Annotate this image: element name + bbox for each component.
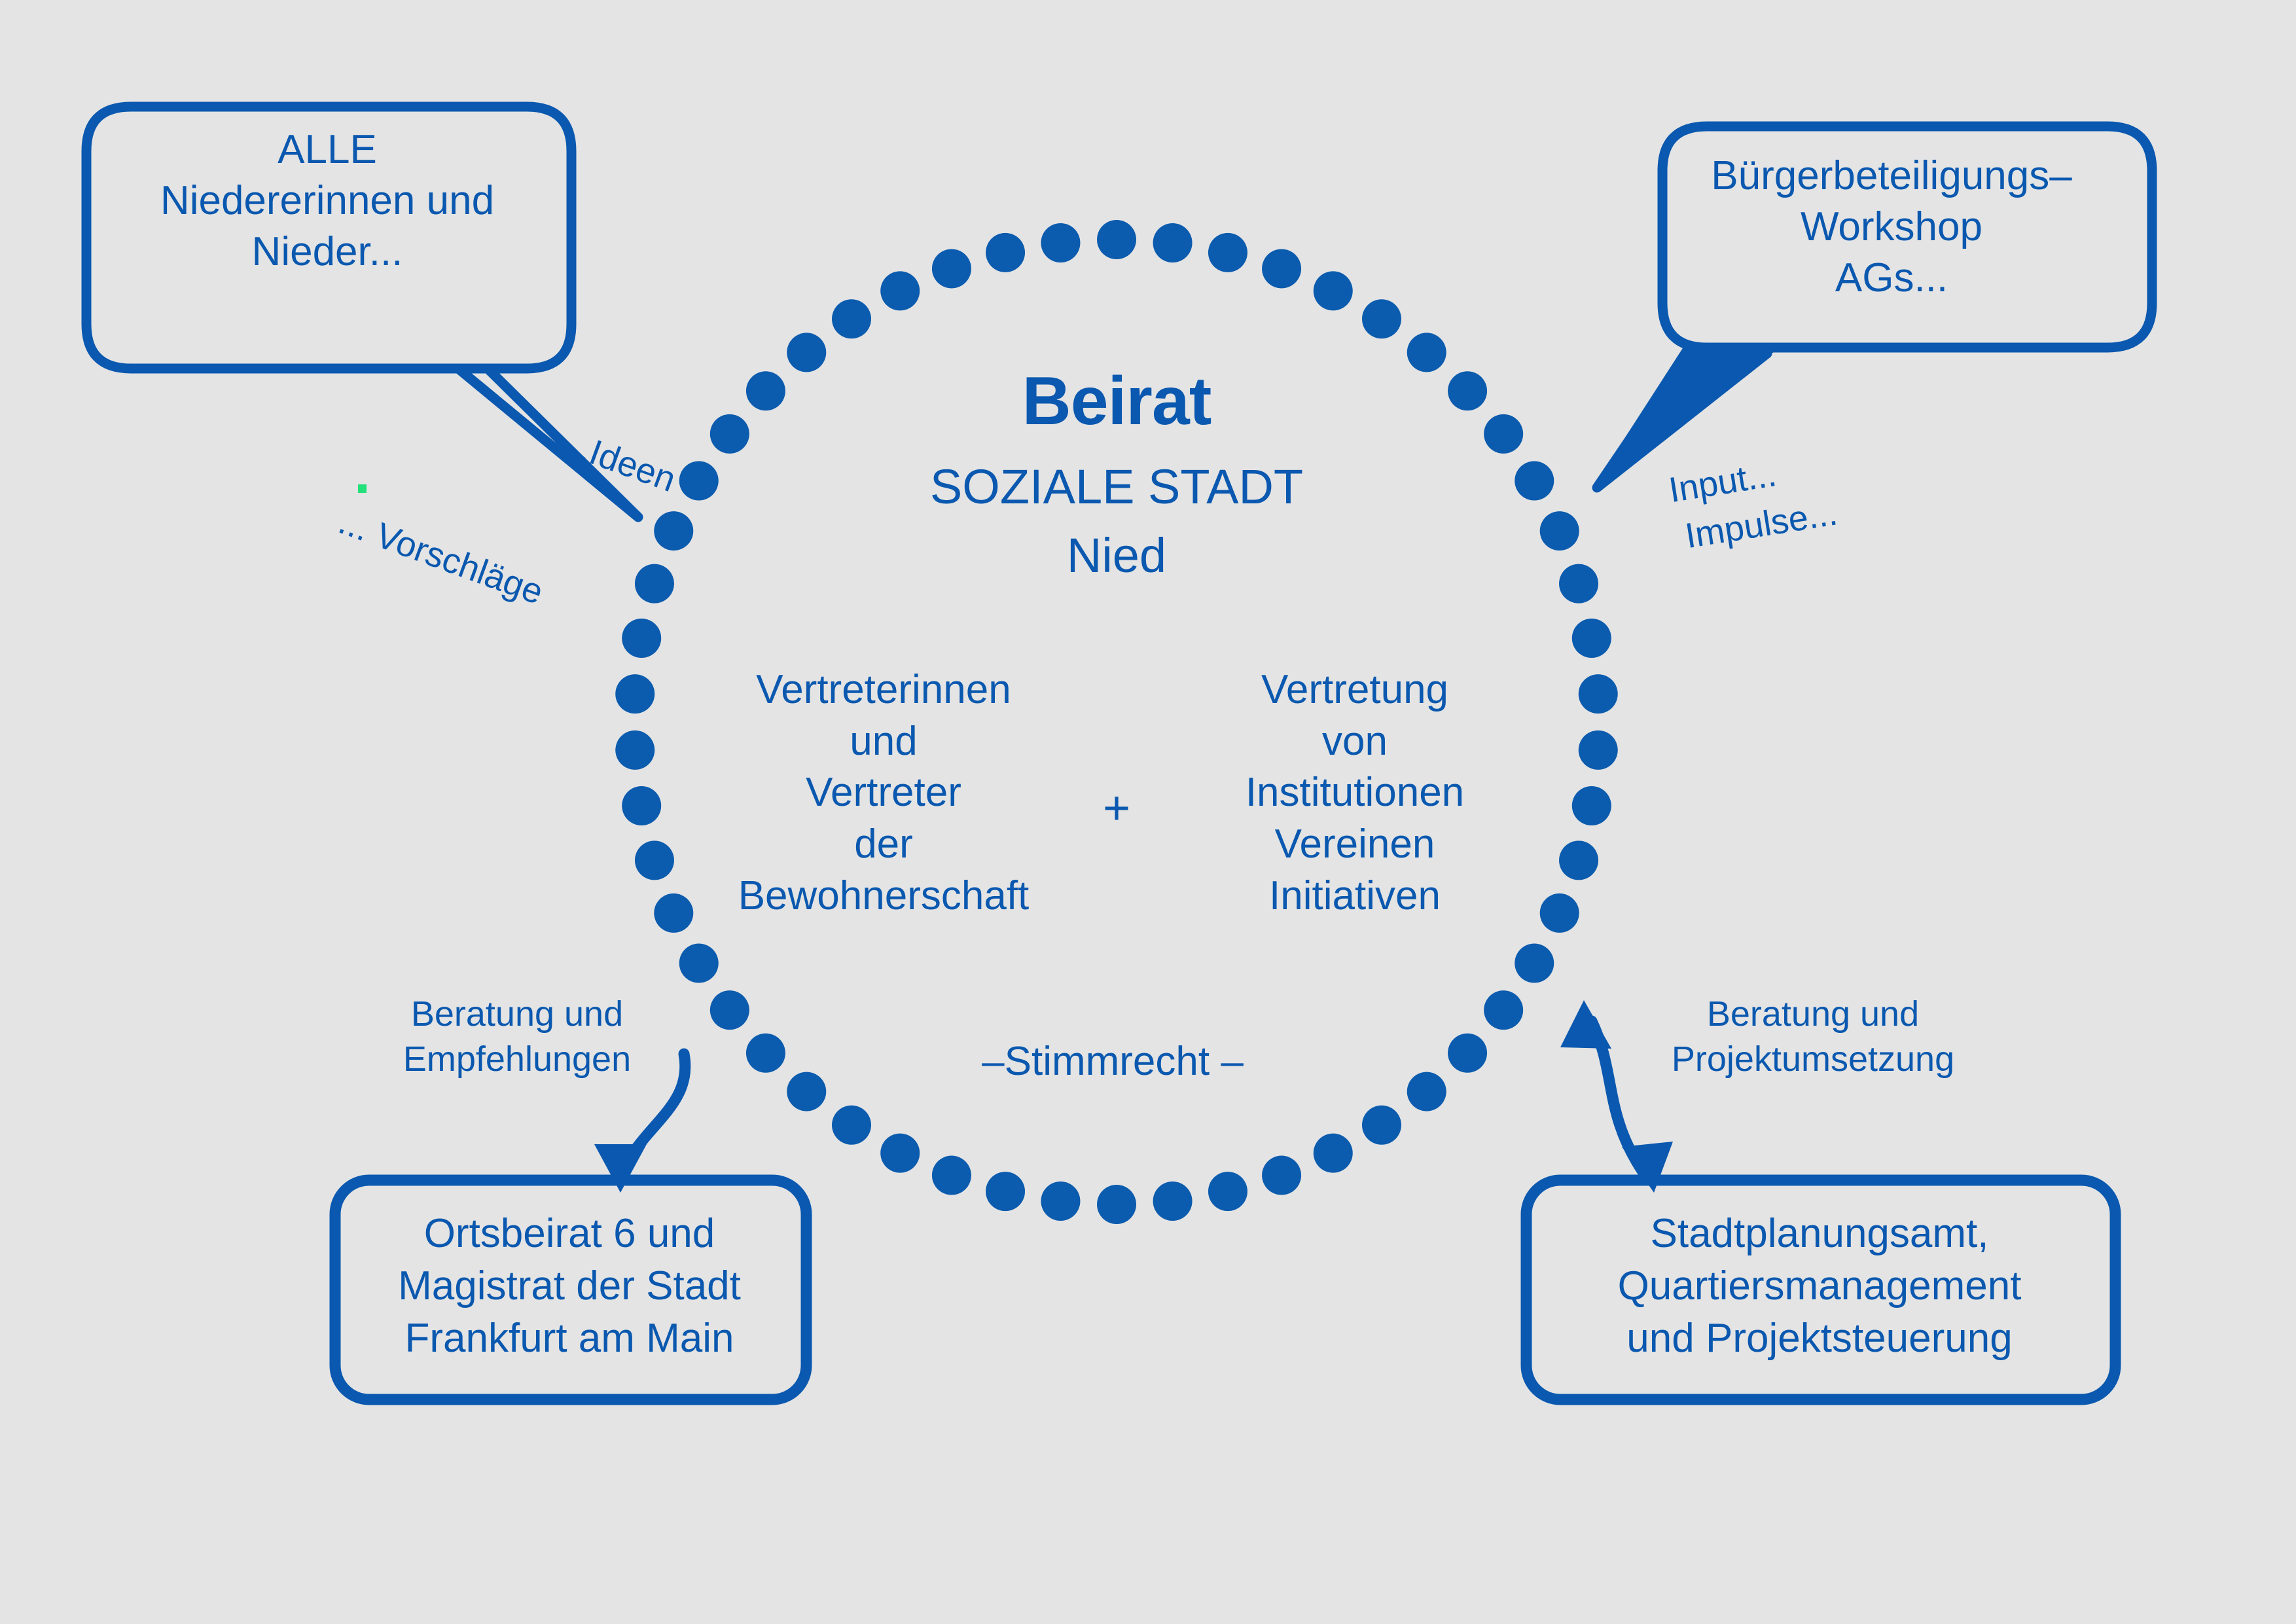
box-bottom-right-label: Stadtplanungsamt, Quartiersmanagement un… — [1545, 1208, 2094, 1365]
center-title: Beirat — [789, 361, 1444, 442]
center-column-left: Vertreterinnen und Vertreter der Bewohne… — [700, 664, 1067, 922]
ring-dot — [1572, 786, 1611, 825]
ring-dot — [1314, 1134, 1353, 1173]
center-subtitle-line2: Nied — [789, 527, 1444, 584]
ring-dot — [1362, 1106, 1401, 1145]
ring-dot — [635, 564, 674, 604]
ring-dot — [615, 674, 655, 713]
ring-dot — [880, 271, 920, 310]
ring-dot — [986, 233, 1025, 272]
ring-dot — [622, 619, 661, 658]
ring-dot — [1208, 1172, 1247, 1211]
ring-dot — [932, 1156, 971, 1195]
box-bottom-left-label: Ortsbeirat 6 und Magistrat der Stadt Fra… — [340, 1208, 798, 1365]
ring-dot — [1484, 990, 1523, 1030]
ring-dot — [1314, 271, 1353, 310]
ring-dot — [1448, 1034, 1487, 1073]
label-beratung-projektumsetzung: Beratung und Projektumsetzung — [1630, 992, 1996, 1082]
ring-dot — [1579, 674, 1618, 713]
ring-dot — [615, 731, 655, 770]
ring-dot — [787, 1072, 826, 1111]
ring-dot — [710, 990, 749, 1030]
center-subtitle-line1: SOZIALE STADT — [789, 458, 1444, 515]
ring-dot — [710, 414, 749, 454]
ring-dot — [1579, 731, 1618, 770]
ring-dot — [932, 249, 971, 288]
ring-dot — [832, 299, 871, 338]
ring-dot — [746, 371, 785, 410]
ring-dot — [746, 1034, 785, 1073]
ring-dot — [654, 511, 693, 550]
bubble-top-left-label: ALLE Niedererinnen und Nieder... — [92, 124, 563, 278]
green-pixel-artifact — [358, 484, 367, 493]
ring-dot — [1559, 840, 1598, 880]
ring-dot — [832, 1106, 871, 1145]
ring-dot — [622, 786, 661, 825]
ring-dot — [635, 840, 674, 880]
stimmrecht-note: –Stimmrecht – — [890, 1038, 1335, 1085]
center-column-right: Vertretung von Institutionen Vereinen In… — [1172, 664, 1538, 922]
ring-dot — [1572, 619, 1611, 658]
ring-dot — [1262, 249, 1301, 288]
ring-dot — [679, 944, 719, 983]
plus-operator: + — [1071, 781, 1162, 837]
bubble-top-right-label: Bürgerbeteiligungs– Workshop AGs... — [1653, 151, 2130, 304]
ring-dot — [1559, 564, 1598, 604]
ring-dot — [1262, 1156, 1301, 1195]
ring-dot — [1448, 371, 1487, 410]
ring-dot — [1153, 223, 1193, 262]
ring-dot — [654, 893, 693, 933]
ring-dot — [1097, 1185, 1136, 1224]
ring-dot — [1208, 233, 1247, 272]
ring-dot — [880, 1134, 920, 1173]
ring-dot — [679, 461, 719, 501]
label-beratung-empfehlungen: Beratung und Empfehlungen — [334, 992, 700, 1082]
ring-dot — [1041, 1182, 1080, 1221]
ring-dot — [1153, 1182, 1193, 1221]
ring-dot — [1041, 223, 1080, 262]
ring-dot — [1484, 414, 1523, 454]
diagram-canvas: ALLE Niedererinnen und Nieder... Bürgerb… — [0, 0, 2296, 1624]
ring-dot — [1407, 1072, 1446, 1111]
ring-dot — [1540, 893, 1579, 933]
ring-dot — [1540, 511, 1579, 550]
ring-dot — [1362, 299, 1401, 338]
ring-dot — [986, 1172, 1025, 1211]
ring-dot — [1515, 461, 1554, 501]
ring-dot — [1097, 220, 1136, 259]
ring-dot — [1515, 944, 1554, 983]
